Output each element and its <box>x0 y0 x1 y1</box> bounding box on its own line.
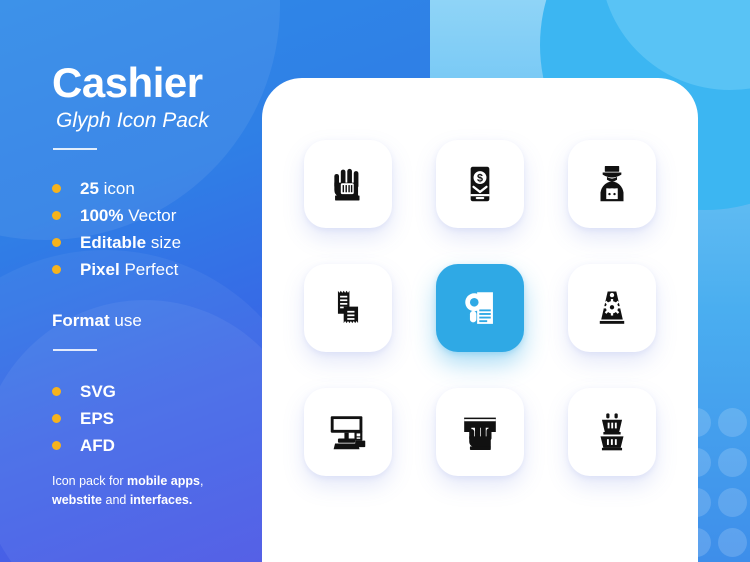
feature-list: 25 icon 100% Vector Editable size Pixel … <box>52 175 181 283</box>
icon-tile-cashier-person[interactable] <box>568 140 656 228</box>
decor-dot <box>718 408 747 437</box>
footer-text-3: and <box>102 493 130 507</box>
pos-terminal-icon <box>325 409 371 455</box>
format-heading: Format use <box>52 311 142 331</box>
bullet-icon <box>52 211 61 220</box>
list-item: Editable size <box>52 229 181 256</box>
format-label: EPS <box>80 409 114 428</box>
feature-strong: Editable <box>80 233 146 252</box>
feature-normal: icon <box>104 179 135 198</box>
receipt-icon <box>325 285 371 331</box>
format-label: AFD <box>80 436 115 455</box>
bullet-icon <box>52 414 61 423</box>
icon-tile-receipt-search[interactable] <box>436 264 524 352</box>
footer-text-1: Icon pack for <box>52 474 127 488</box>
icon-tile-price-tag-settings[interactable] <box>568 264 656 352</box>
bullet-icon <box>52 441 61 450</box>
icon-grid: $ <box>282 140 678 476</box>
footer-note: Icon pack for mobile apps, webstite and … <box>52 472 252 510</box>
list-item: 25 icon <box>52 175 181 202</box>
page-title: Cashier <box>52 62 203 104</box>
list-item: AFD <box>52 432 116 459</box>
icon-tile-mobile-payment[interactable]: $ <box>436 140 524 228</box>
decor-dot <box>718 488 747 517</box>
feature-normal: Vector <box>128 206 176 225</box>
feature-normal: size <box>151 233 181 252</box>
decor-dot <box>718 528 747 557</box>
info-panel: Cashier Glyph Icon Pack 25 icon 100% Vec… <box>0 0 262 562</box>
icon-tile-receipt[interactable] <box>304 264 392 352</box>
icon-showcase-card: $ <box>262 78 698 562</box>
feature-strong: Pixel <box>80 260 120 279</box>
list-item: 100% Vector <box>52 202 181 229</box>
svg-text:$: $ <box>477 172 483 184</box>
hand-barcode-icon <box>325 161 371 207</box>
feature-strong: 25 <box>80 179 99 198</box>
icon-tile-cash-withdraw[interactable] <box>436 388 524 476</box>
page-subtitle: Glyph Icon Pack <box>56 110 209 131</box>
shopping-baskets-icon <box>589 409 635 455</box>
divider-format <box>53 349 97 351</box>
footer-strong-3: interfaces. <box>130 493 193 507</box>
footer-strong-1: mobile apps <box>127 474 200 488</box>
mobile-payment-icon: $ <box>457 161 503 207</box>
icon-tile-hand-barcode[interactable] <box>304 140 392 228</box>
bullet-icon <box>52 238 61 247</box>
list-item: SVG <box>52 378 116 405</box>
poster-canvas: Cashier Glyph Icon Pack 25 icon 100% Vec… <box>0 0 750 562</box>
bullet-icon <box>52 184 61 193</box>
receipt-search-icon <box>457 285 503 331</box>
price-tag-settings-icon <box>589 285 635 331</box>
list-item: EPS <box>52 405 116 432</box>
decor-dot <box>718 448 747 477</box>
footer-strong-2: webstite <box>52 493 102 507</box>
feature-strong: 100% <box>80 206 123 225</box>
cashier-person-icon <box>589 161 635 207</box>
bullet-icon <box>52 387 61 396</box>
format-heading-strong: Format <box>52 311 110 330</box>
format-list: SVG EPS AFD <box>52 378 116 459</box>
format-heading-normal: use <box>114 311 141 330</box>
cash-withdraw-icon <box>457 409 503 455</box>
footer-text-2: , <box>200 474 203 488</box>
bullet-icon <box>52 265 61 274</box>
icon-tile-pos-terminal[interactable] <box>304 388 392 476</box>
list-item: Pixel Perfect <box>52 256 181 283</box>
format-label: SVG <box>80 382 116 401</box>
divider-top <box>53 148 97 150</box>
icon-tile-shopping-baskets[interactable] <box>568 388 656 476</box>
feature-normal: Perfect <box>124 260 178 279</box>
